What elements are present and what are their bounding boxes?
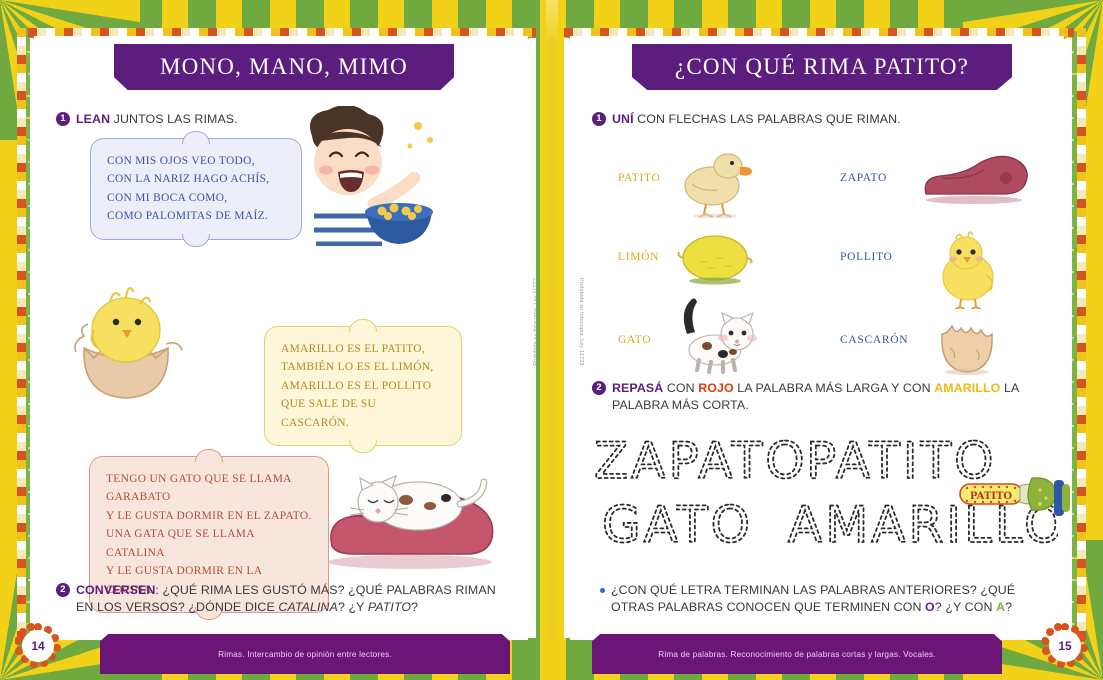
instruction-text: LEAN JUNTOS LAS RIMAS. xyxy=(76,111,238,128)
poem-line: COMO PALOMITAS DE MAÍZ. xyxy=(107,207,285,225)
match-word-cascaron[interactable]: CASCARÓN xyxy=(840,334,908,346)
match-word-limon[interactable]: LIMÓN xyxy=(618,251,659,263)
instruction-text: UNÍ CON FLECHAS LAS PALABRAS QUE RIMAN. xyxy=(612,111,901,128)
page-gutter-highlight xyxy=(546,0,558,44)
instruction-text: CONVERSEN: ¿QUÉ RIMA LES GUSTÓ MÁS? ¿QUÉ… xyxy=(76,582,508,615)
activity-number-badge: 2 xyxy=(592,381,606,395)
poem-line: Y LE GUSTA DORMIR EN EL ZAPATO. xyxy=(106,507,312,525)
marker-tag-label: PATITO xyxy=(970,491,1013,502)
right-page: ¿CON QUÉ RIMA PATITO? 1 UNÍ CON FLECHAS … xyxy=(570,36,1064,640)
left-page: MONO, MANO, MIMO 1 LEAN JUNTOS LAS RIMAS… xyxy=(34,36,528,640)
poem-line: CON MI BOCA COMO, xyxy=(107,189,285,207)
spine-copyright-left: Prohibida su fotocopia. Ley 11723 xyxy=(533,278,539,366)
cat-sleeping-in-shoe-illustration xyxy=(314,454,504,584)
right-activity-1-instruction: 1 UNÍ CON FLECHAS LAS PALABRAS QUE RIMAN… xyxy=(592,111,1032,128)
green-marker-illustration: PATITO xyxy=(958,472,1070,528)
duck-illustration xyxy=(670,146,760,218)
trace-word-zapato: ZAPATO xyxy=(594,432,808,490)
right-activity-2-instruction: 2 REPASÁ CON ROJO LA PALABRA MÁS LARGA Y… xyxy=(592,380,1034,413)
page-number-badge-right: 15 xyxy=(1045,626,1085,666)
lemon-illustration xyxy=(675,228,755,288)
page-number-badge-left: 14 xyxy=(18,626,58,666)
left-page-banner: MONO, MANO, MIMO xyxy=(114,44,454,90)
instruction-text: ¿CON QUÉ LETRA TERMINAN LAS PALABRAS ANT… xyxy=(611,582,1045,615)
trace-word-gato: GATO xyxy=(602,496,753,552)
match-word-patito[interactable]: PATITO xyxy=(618,172,661,184)
match-word-zapato[interactable]: ZAPATO xyxy=(840,172,887,184)
poem-line: AMARILLO ES EL POLLITO xyxy=(281,377,445,395)
poem-line: TENGO UN GATO QUE SE LLAMA GARABATO xyxy=(106,470,312,507)
right-page-banner: ¿CON QUÉ RIMA PATITO? xyxy=(632,44,1012,90)
checker-trim-right-side xyxy=(1077,28,1086,640)
book-spread: MONO, MANO, MIMO 1 LEAN JUNTOS LAS RIMAS… xyxy=(0,0,1103,680)
chick-hatching-from-egg-illustration xyxy=(54,274,204,414)
poem-line: TAMBIÉN LO ES EL LIMÓN, xyxy=(281,358,445,376)
left-activity-2-instruction: 2 CONVERSEN: ¿QUÉ RIMA LES GUSTÓ MÁS? ¿Q… xyxy=(56,582,508,615)
right-bullet-question: ¿CON QUÉ LETRA TERMINAN LAS PALABRAS ANT… xyxy=(600,582,1045,615)
spine-copyright-right: Prohibida su fotocopia. Ley 11723 xyxy=(578,278,584,366)
poem-line: AMARILLO ES EL PATITO, xyxy=(281,340,445,358)
bullet-dot-icon xyxy=(600,588,605,593)
page-gutter-shadow xyxy=(547,36,557,640)
poem-line: CON MIS OJOS VEO TODO, xyxy=(107,152,285,170)
eggshell-illustration xyxy=(932,314,1002,376)
poem-line: CON LA NARIZ HAGO ACHÍS, xyxy=(107,170,285,188)
cat-illustration xyxy=(665,294,770,376)
shoe-illustration xyxy=(918,154,1028,210)
match-word-gato[interactable]: GATO xyxy=(618,334,651,346)
page-number-left: 14 xyxy=(31,639,44,653)
match-word-pollito[interactable]: POLLITO xyxy=(840,251,893,263)
boy-eating-popcorn-illustration xyxy=(270,106,460,246)
activity-number-badge: 1 xyxy=(56,112,70,126)
poem-line: UNA GATA QUE SE LLAMA CATALINA xyxy=(106,525,312,562)
poem-line: QUE SALE DE SU CASCARÓN. xyxy=(281,395,445,432)
left-page-footer: Rimas. Intercambio de opinión entre lect… xyxy=(100,634,510,674)
activity-number-badge: 2 xyxy=(56,583,70,597)
instruction-text: REPASÁ CON ROJO LA PALABRA MÁS LARGA Y C… xyxy=(612,380,1034,413)
page-number-right: 15 xyxy=(1058,639,1071,653)
right-page-footer: Rima de palabras. Reconocimiento de pala… xyxy=(592,634,1002,674)
poem-box-yellow: AMARILLO ES EL PATITO, TAMBIÉN LO ES EL … xyxy=(264,326,462,446)
activity-number-badge: 1 xyxy=(592,112,606,126)
checker-trim-left-side xyxy=(17,28,26,640)
chick-illustration xyxy=(928,231,1008,309)
